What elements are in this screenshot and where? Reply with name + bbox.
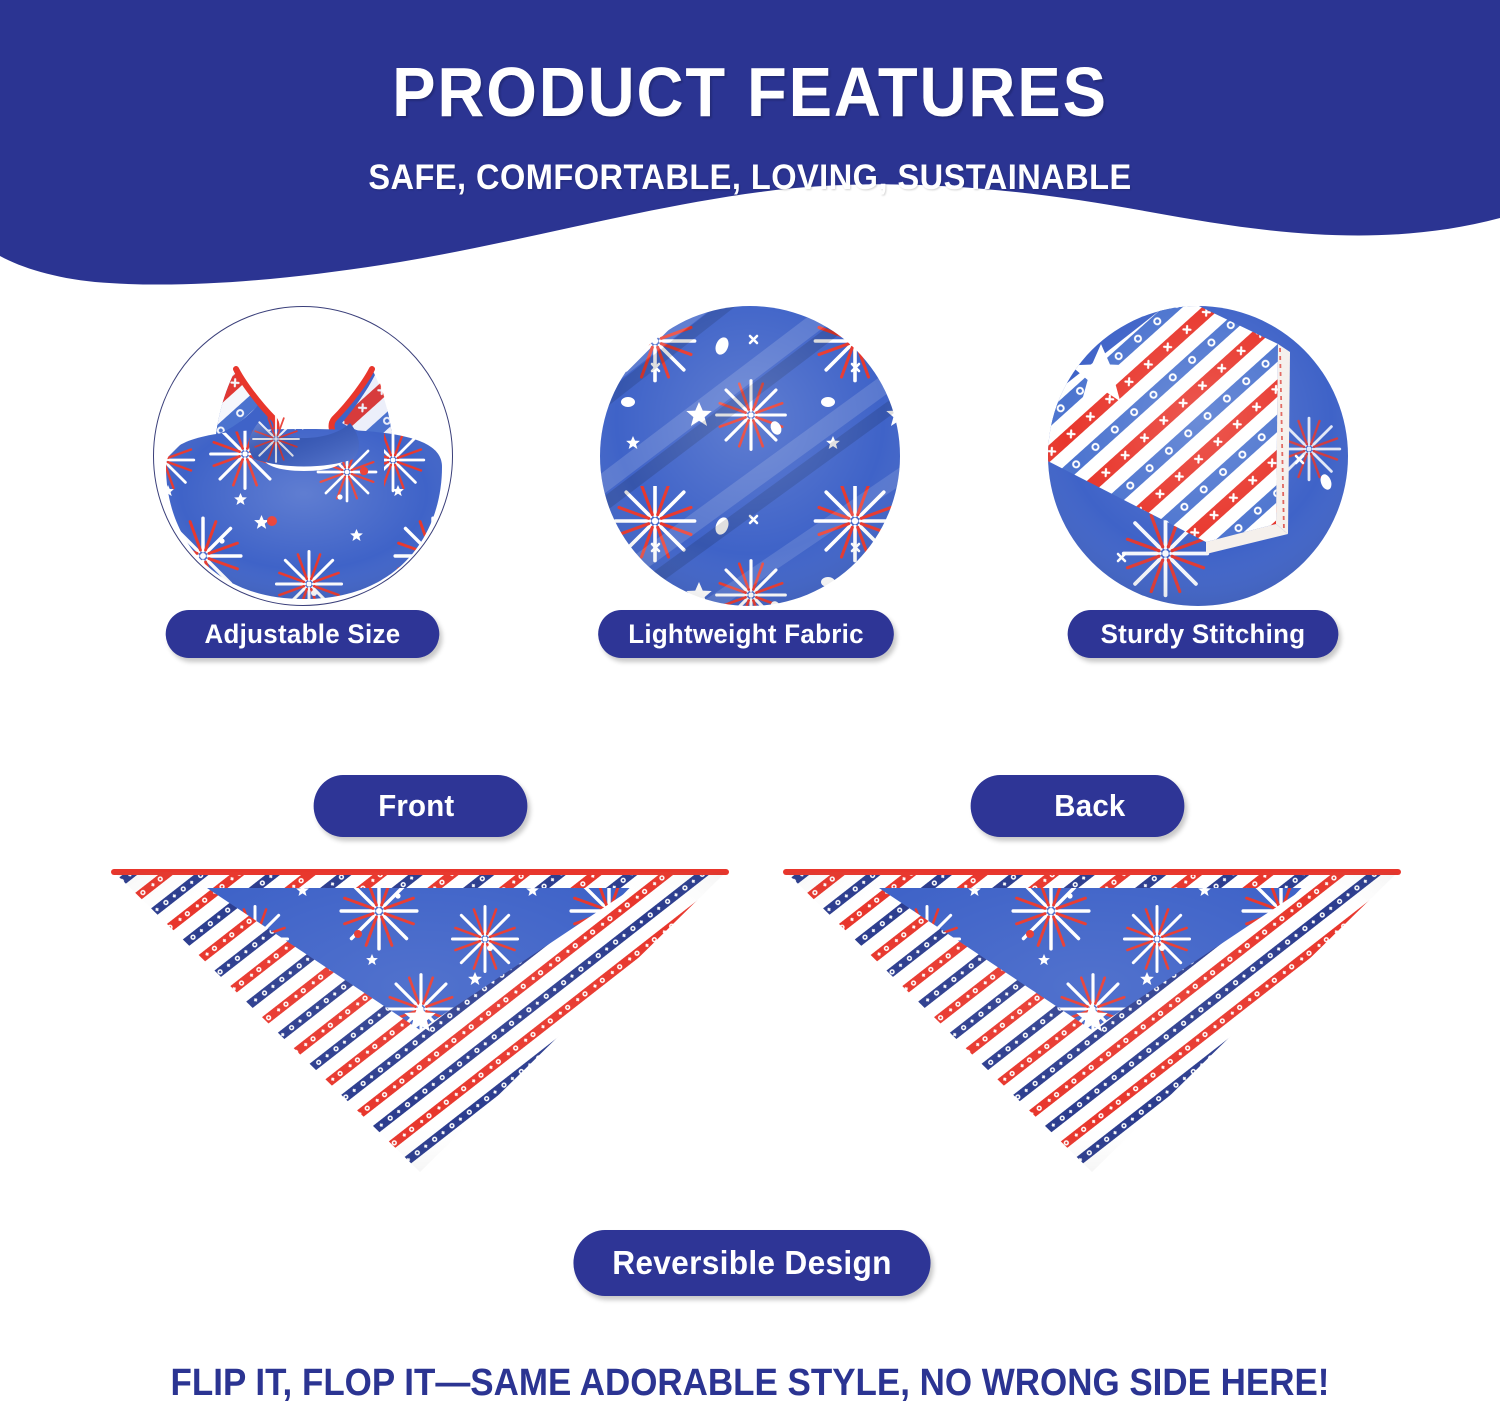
footer-tagline: FLIP IT, FLOP IT—SAME ADORABLE STYLE, NO…	[60, 1362, 1440, 1405]
product-features-infographic: PRODUCT FEATURES SAFE, COMFORTABLE, LOVI…	[0, 0, 1500, 1417]
bandana-triangle-back	[772, 862, 1412, 1197]
bandana-triangle-front	[100, 862, 740, 1197]
header-banner	[0, 0, 1500, 300]
stitched-edge-closeup-photo	[1048, 306, 1348, 606]
feature-label-sturdy-stitching[interactable]: Sturdy Stitching	[1068, 610, 1339, 658]
feature-item-sturdy-stitching	[1048, 306, 1348, 606]
reversible-design-label[interactable]: Reversible Design	[573, 1230, 930, 1296]
feature-item-adjustable-size	[153, 306, 453, 606]
page-subtitle: SAFE, COMFORTABLE, LOVING, SUSTAINABLE	[53, 158, 1448, 198]
side-label-front[interactable]: Front	[314, 775, 528, 837]
fabric-drape-closeup-photo	[600, 306, 900, 606]
feature-label-lightweight-fabric[interactable]: Lightweight Fabric	[598, 610, 894, 658]
bandana-tied-scarf-photo	[153, 306, 453, 606]
header-wave-shape	[0, 0, 1500, 300]
page-title: PRODUCT FEATURES	[53, 52, 1448, 132]
feature-label-adjustable-size[interactable]: Adjustable Size	[166, 610, 440, 658]
side-label-back[interactable]: Back	[971, 775, 1185, 837]
feature-item-lightweight-fabric	[600, 306, 900, 606]
